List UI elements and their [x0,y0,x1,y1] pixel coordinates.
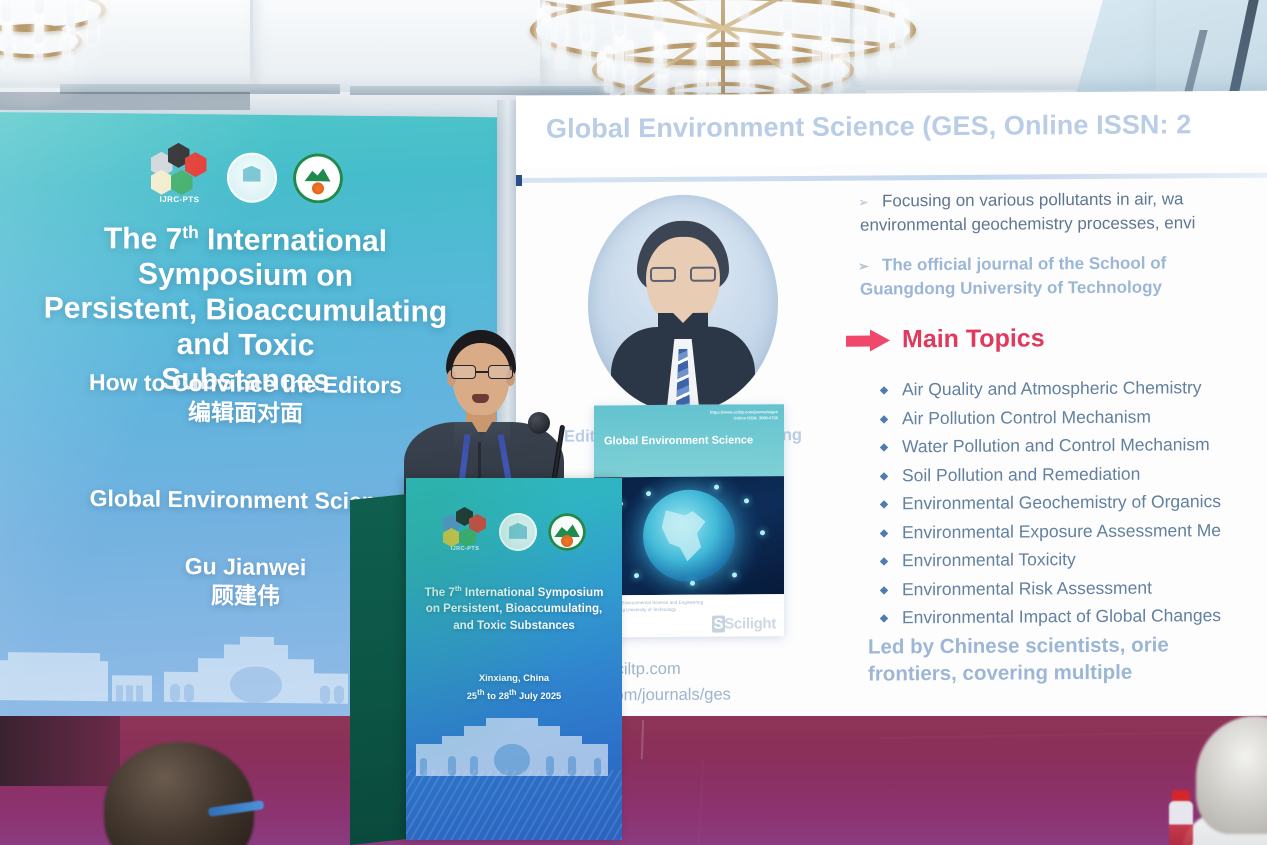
topic-item: Environmental Risk Assessment [868,572,1267,604]
topic-item: Environmental Exposure Assessment Me [868,515,1267,547]
podium-title-ordinal: th [455,584,462,593]
topic-item: Air Pollution Control Mechanism [868,401,1267,433]
journal-cover: https://www.sciltp.com/journals/ges Onli… [594,404,784,637]
water-bottle [1168,790,1194,845]
topic-label: Environmental Geochemistry of Organics [902,491,1221,513]
left-screen-logos: IJRC-PTS [0,140,497,205]
crystal-rod [740,34,749,65]
crystal-rod [855,0,864,43]
topic-item: Soil Pollution and Remediation [868,458,1267,490]
topic-label: Environmental Impact of Global Changes [902,605,1221,627]
journal-cover-block: https://www.sciltp.com/journals/ges Onli… [594,404,784,637]
crystal-rod [2,0,11,22]
conference-photo: IJRC-PTS The 7th International Symposium… [0,0,1267,845]
bullet-line1: Focusing on various pollutants in air, w… [882,189,1183,210]
bullet-line1: The official journal of the School of [882,254,1166,275]
crystal-rod [783,0,792,30]
crystal-rod [542,2,551,44]
crystal-rod [62,26,71,56]
foreground-audience-right [1196,716,1267,845]
bullet-line2: environmental geochemistry processes, en… [860,211,1195,237]
green-environment-logo [293,153,343,204]
crystal-rod [822,0,831,37]
diamond-bullet-icon [880,386,888,394]
crystal-rod [66,0,75,27]
podium-skyline-graphic [412,716,612,778]
crystal-rod [740,0,749,21]
bullet-arrow-icon: ➢ [858,258,869,277]
editor-portrait [588,194,778,413]
crystal-rod [557,0,566,45]
bullet-arrow-icon: ➢ [858,194,869,213]
right-projection-screen: Global Environment Science (GES, Online … [516,91,1267,721]
podium-logos: IJRC-PTS [406,506,622,551]
topic-label: Air Pollution Control Mechanism [902,406,1151,428]
crystal-rod [34,22,43,44]
crystal-rod [73,32,82,50]
crystal-rod [812,40,821,80]
crystal-rod [604,46,613,81]
editor-portrait-block: Editor-in-Chief: Prof. Taicheng An [588,194,778,413]
podium-title-suffix: International Symposium [462,586,604,599]
speaker-glasses [451,365,513,380]
podium-location: Xinxiang, China [479,672,549,683]
topics-list: Air Quality and Atmospheric ChemistryAir… [868,372,1267,632]
topic-item: Environmental Toxicity [868,543,1267,575]
subtitle-english: How to Convince the Editors [89,369,402,398]
subtitle-chinese: 编辑面对面 [188,399,303,426]
ceiling-panel [250,0,556,92]
ceiling-shadow [0,92,250,110]
podium-lectern: IJRC-PTS The 7th International Symposium… [350,478,622,845]
crystal-rod [35,0,44,14]
title-ordinal: th [182,222,198,242]
crystal-rod [88,0,97,31]
crystal-rod [625,40,634,80]
topic-label: Environmental Risk Assessment [902,577,1152,599]
crystal-rod [880,0,889,45]
podium-title-prefix: The 7 [425,586,455,599]
topic-label: Soil Pollution and Remediation [902,463,1140,485]
ijrc-pts-logo: IJRC-PTS [149,142,211,203]
diamond-bullet-icon [880,443,888,451]
journal-cover-issn: https://www.sciltp.com/journals/ges Onli… [710,409,778,421]
led-by-note: Led by Chinese scientists, orie frontier… [868,630,1267,687]
led-note-line2: frontiers, covering multiple [868,661,1132,686]
microphone-head-icon [528,412,550,434]
diamond-bullet-icon [880,614,888,622]
title-line2: Persistent, Bioaccumulating and Toxic [44,292,447,363]
university-crest-logo [227,152,277,203]
publisher-logo: SScilight [712,615,777,632]
ijrc-pts-caption: IJRC-PTS [149,195,211,205]
podium-title-line3: and Toxic Substances [453,619,575,632]
podium-location-dates: Xinxiang, China 25th to 28th July 2025 [418,670,610,705]
topic-item: Environmental Geochemistry of Organics [868,486,1267,518]
topic-item: Water Pollution and Control Mechanism [868,429,1267,461]
topic-label: Water Pollution and Control Mechanism [902,434,1210,456]
crystal-rod [780,36,789,74]
podium-title: The 7th International Symposium on Persi… [418,584,610,634]
topic-item: Air Quality and Atmospheric Chemistry [868,372,1267,404]
topic-label: Air Quality and Atmospheric Chemistry [902,377,1202,399]
main-topics-label: Main Topics [902,324,1045,354]
bullet-line2: Guangdong University of Technology [860,276,1162,302]
diamond-bullet-icon [880,472,888,480]
topic-label: Environmental Toxicity [902,549,1076,570]
university-crest-logo [499,513,537,551]
speaker-name-english: Gu Jianwei [185,553,306,580]
crystal-rod [4,23,13,51]
slide-title-rule [516,173,1267,183]
speaker-name-chinese: 顾建伟 [211,583,280,610]
crystal-rod [697,34,706,65]
crystal-rod [34,42,43,64]
bullet-item: ➢ The official journal of the School of … [846,251,1267,303]
journal-cover-title: Global Environment Science [604,434,753,447]
ijrc-pts-logo: IJRC-PTS [442,506,488,551]
crystal-rod [582,0,591,43]
bullet-item: ➢ Focusing on various pollutants in air,… [846,186,1267,238]
crystal-rod [833,46,842,81]
podium-dates-pre: 25 [467,691,477,702]
diamond-bullet-icon [880,586,888,594]
diamond-bullet-icon [880,415,888,423]
foreground-audience-left [96,742,282,845]
diamond-bullet-icon [880,529,888,537]
main-topics-heading: Main Topics [846,324,1045,354]
crystal-rod [658,36,667,74]
crystal-rod [895,2,904,44]
led-note-line1: Led by Chinese scientists, orie [868,633,1169,658]
topic-item: Environmental Impact of Global Changes [868,600,1267,632]
diamond-bullet-icon [880,500,888,508]
green-environment-logo [548,513,586,551]
journal-cover-globe-image [594,476,784,595]
crystal-rod [615,0,624,37]
podium-title-line2: on Persistent, Bioaccumulating, [426,602,603,615]
red-arrow-icon [846,329,890,351]
crystal-rod [654,0,663,30]
diamond-bullet-icon [880,557,888,565]
crystal-rod [697,0,706,21]
crystal-rod [97,0,106,24]
slide-title: Global Environment Science (GES, Online … [546,109,1267,145]
title-prefix: The 7 [104,222,182,256]
chandelier-secondary [0,0,106,88]
ijrc-pts-caption: IJRC-PTS [442,546,488,552]
slide-bullets: ➢ Focusing on various pollutants in air,… [846,186,1267,306]
topic-label: Environmental Exposure Assessment Me [902,520,1221,542]
